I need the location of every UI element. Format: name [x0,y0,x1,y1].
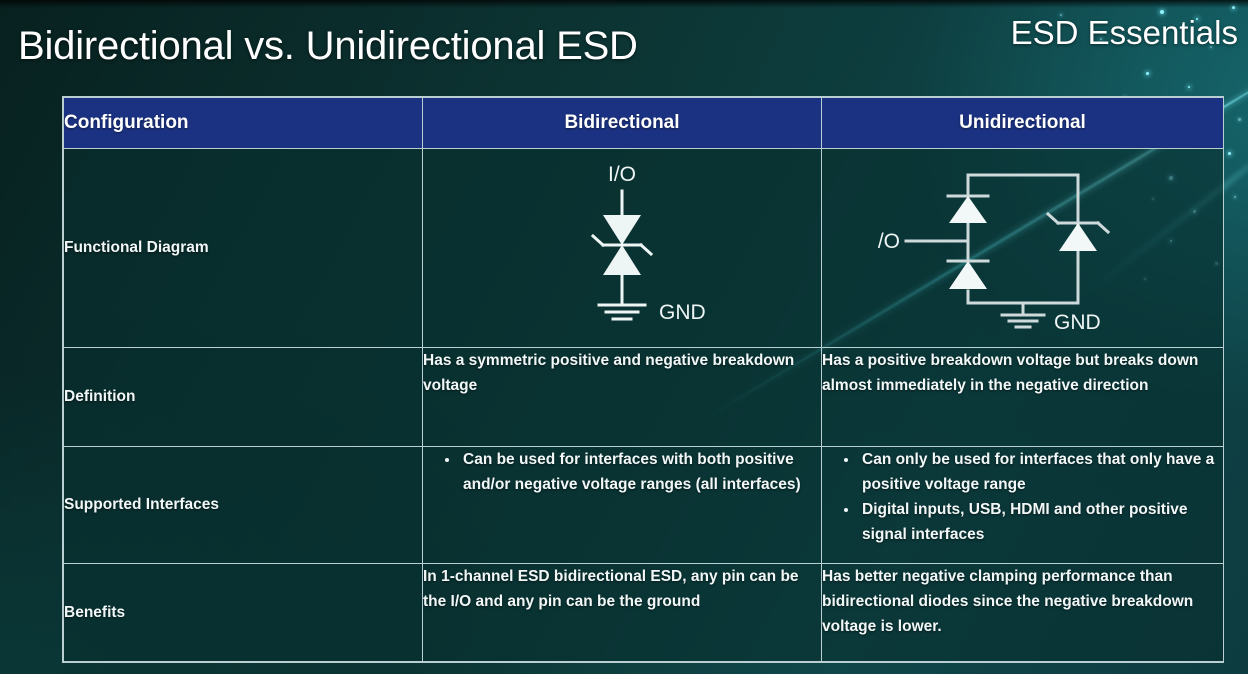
table-body: Functional Diagram [64,149,1224,662]
cell-benefits-unidirectional: Has better negative clamping performance… [822,564,1224,662]
particle-dot [1238,118,1241,121]
cell-definition-bidirectional: Has a symmetric positive and negative br… [423,348,822,447]
comparison-table-wrapper: Configuration Bidirectional Unidirection… [62,96,1224,663]
cell-benefits-bidirectional: In 1-channel ESD bidirectional ESD, any … [423,564,822,662]
table-header-row: Configuration Bidirectional Unidirection… [64,98,1224,149]
table-header: Configuration Bidirectional Unidirection… [64,98,1224,149]
list-item: Digital inputs, USB, HDMI and other posi… [844,497,1223,547]
column-header-configuration: Configuration [64,98,423,149]
table-row: Benefits In 1-channel ESD bidirectional … [64,564,1224,662]
row-label-benefits: Benefits [64,564,423,662]
slide-canvas: Bidirectional vs. Unidirectional ESD ESD… [0,0,1248,674]
io-label-unidirectional: I/O [878,230,900,253]
table-row: Definition Has a symmetric positive and … [64,348,1224,447]
cell-bidirectional-diagram: I/O GND [423,149,822,348]
gnd-label-bidirectional: GND [659,301,706,324]
comparison-table: Configuration Bidirectional Unidirection… [63,97,1224,662]
list-item: Can be used for interfaces with both pos… [445,447,821,497]
bullet-list-bidirectional: Can be used for interfaces with both pos… [423,447,821,497]
zener-diode-right [1059,223,1097,251]
cell-interfaces-bidirectional: Can be used for interfaces with both pos… [423,447,822,564]
bidirectional-tvs-circuit-svg: I/O GND [507,153,737,343]
series-kicker: ESD Essentials [1011,14,1238,52]
particle-dot [1146,72,1149,75]
row-label-functional-diagram: Functional Diagram [64,149,423,348]
cell-unidirectional-diagram: I/O GND [822,149,1224,348]
row-label-definition: Definition [64,348,423,447]
table-row: Functional Diagram [64,149,1224,348]
io-label-bidirectional: I/O [608,163,636,186]
list-item: Can only be used for interfaces that onl… [844,447,1223,497]
unidirectional-esd-circuit-svg: I/O GND [878,153,1168,343]
gnd-label-unidirectional: GND [1054,311,1101,334]
steering-diode-upper [949,196,987,223]
particle-dot [1188,86,1190,88]
particle-dot [1228,152,1231,155]
table-row: Supported Interfaces Can be used for int… [64,447,1224,564]
row-label-supported-interfaces: Supported Interfaces [64,447,423,564]
particle-dot [1232,6,1235,9]
particle-dot [1234,196,1236,198]
bullet-list-unidirectional: Can only be used for interfaces that onl… [822,447,1223,547]
steering-diode-lower [949,261,987,289]
top-shade [0,0,1248,8]
page-title: Bidirectional vs. Unidirectional ESD [18,24,638,69]
cell-interfaces-unidirectional: Can only be used for interfaces that onl… [822,447,1224,564]
cell-definition-unidirectional: Has a positive breakdown voltage but bre… [822,348,1224,447]
column-header-bidirectional: Bidirectional [423,98,822,149]
column-header-unidirectional: Unidirectional [822,98,1224,149]
